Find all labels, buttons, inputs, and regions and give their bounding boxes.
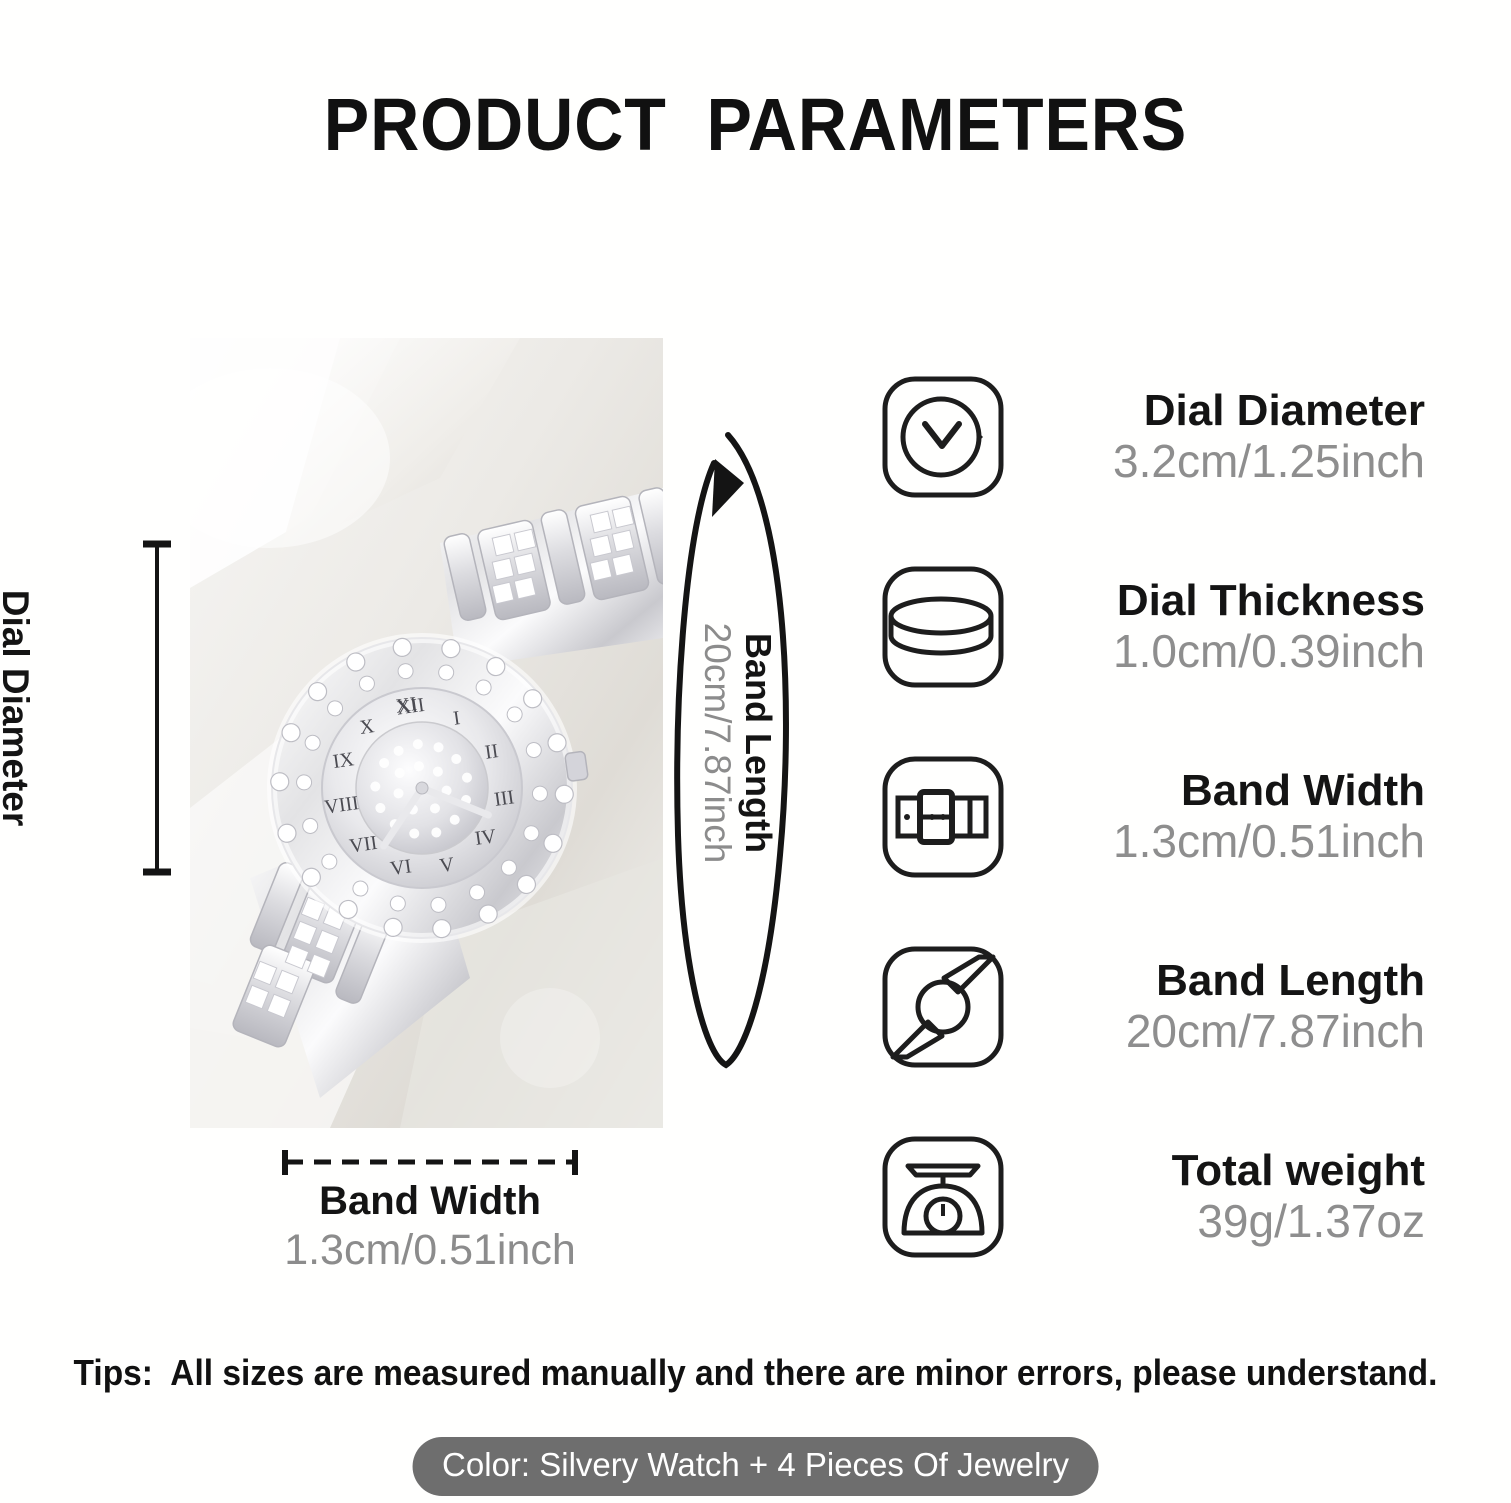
band-length-overlay-text: Band Length 20cm/7.87inch bbox=[691, 578, 783, 908]
spec-list: Dial Diameter 3.2cm/1.25inch Dial Thickn… bbox=[880, 342, 1440, 1292]
kitchen-scale-icon bbox=[880, 1134, 1006, 1260]
product-parameters-infographic: PRODUCT PARAMETERS bbox=[0, 0, 1511, 1503]
band-length-overlay-value: 20cm/7.87inch bbox=[696, 623, 737, 864]
horizontal-dashed-measure-line bbox=[280, 1148, 580, 1182]
spec-label: Band Width bbox=[1006, 766, 1425, 816]
spec-text-dial-thickness: Dial Thickness 1.0cm/0.39inch bbox=[1006, 576, 1440, 678]
band-length-overlay-label: Band Length bbox=[738, 633, 778, 853]
svg-text:VII: VII bbox=[348, 832, 379, 858]
vertical-measure-line bbox=[142, 540, 172, 876]
svg-text:XI: XI bbox=[394, 693, 418, 718]
tips-text: Tips: All sizes are measured manually an… bbox=[53, 1352, 1458, 1394]
band-width-overlay-value: 1.3cm/0.51inch bbox=[205, 1225, 655, 1276]
spec-row-total-weight: Total weight 39g/1.37oz bbox=[880, 1102, 1440, 1292]
product-photo-image: XII I II III IV V VI VII VIII IX X XI bbox=[190, 338, 663, 1128]
dial-diameter-overlay-text: Dial Diameter 3.2cm/1.25inch bbox=[0, 540, 40, 876]
svg-text:III: III bbox=[493, 786, 516, 811]
band-width-measure-bar bbox=[280, 1148, 580, 1182]
watch-dial-icon bbox=[880, 374, 1006, 500]
spec-value: 3.2cm/1.25inch bbox=[1006, 436, 1425, 488]
spec-value: 1.0cm/0.39inch bbox=[1006, 626, 1425, 678]
watch-strap-icon bbox=[880, 944, 1006, 1070]
page-title: PRODUCT PARAMETERS bbox=[60, 82, 1450, 167]
spec-label: Band Length bbox=[1006, 956, 1425, 1006]
band-width-overlay-text: Band Width 1.3cm/0.51inch bbox=[205, 1178, 655, 1276]
spec-label: Dial Thickness bbox=[1006, 576, 1425, 626]
product-photo: XII I II III IV V VI VII VIII IX X XI bbox=[190, 338, 663, 1128]
spec-text-dial-diameter: Dial Diameter 3.2cm/1.25inch bbox=[1006, 386, 1440, 488]
band-width-overlay-label: Band Width bbox=[205, 1178, 655, 1225]
spec-label: Total weight bbox=[1006, 1146, 1425, 1196]
spec-value: 1.3cm/0.51inch bbox=[1006, 816, 1425, 868]
spec-row-dial-diameter: Dial Diameter 3.2cm/1.25inch bbox=[880, 342, 1440, 532]
cylinder-thickness-icon bbox=[880, 564, 1006, 690]
spec-row-dial-thickness: Dial Thickness 1.0cm/0.39inch bbox=[880, 532, 1440, 722]
spec-label: Dial Diameter bbox=[1006, 386, 1425, 436]
color-variant-badge: Color: Silvery Watch + 4 Pieces Of Jewel… bbox=[412, 1437, 1099, 1496]
svg-text:IX: IX bbox=[331, 748, 356, 773]
belt-buckle-icon bbox=[880, 754, 1006, 880]
svg-text:VI: VI bbox=[389, 855, 413, 880]
spec-row-band-length: Band Length 20cm/7.87inch bbox=[880, 912, 1440, 1102]
spec-value: 39g/1.37oz bbox=[1006, 1196, 1425, 1248]
dial-diameter-measure-bar bbox=[142, 540, 172, 876]
spec-text-total-weight: Total weight 39g/1.37oz bbox=[1006, 1146, 1440, 1248]
spec-value: 20cm/7.87inch bbox=[1006, 1006, 1425, 1058]
dial-diameter-overlay-label: Dial Diameter bbox=[0, 590, 36, 827]
spec-text-band-width: Band Width 1.3cm/0.51inch bbox=[1006, 766, 1440, 868]
spec-text-band-length: Band Length 20cm/7.87inch bbox=[1006, 956, 1440, 1058]
svg-text:IV: IV bbox=[474, 825, 499, 850]
spec-row-band-width: Band Width 1.3cm/0.51inch bbox=[880, 722, 1440, 912]
